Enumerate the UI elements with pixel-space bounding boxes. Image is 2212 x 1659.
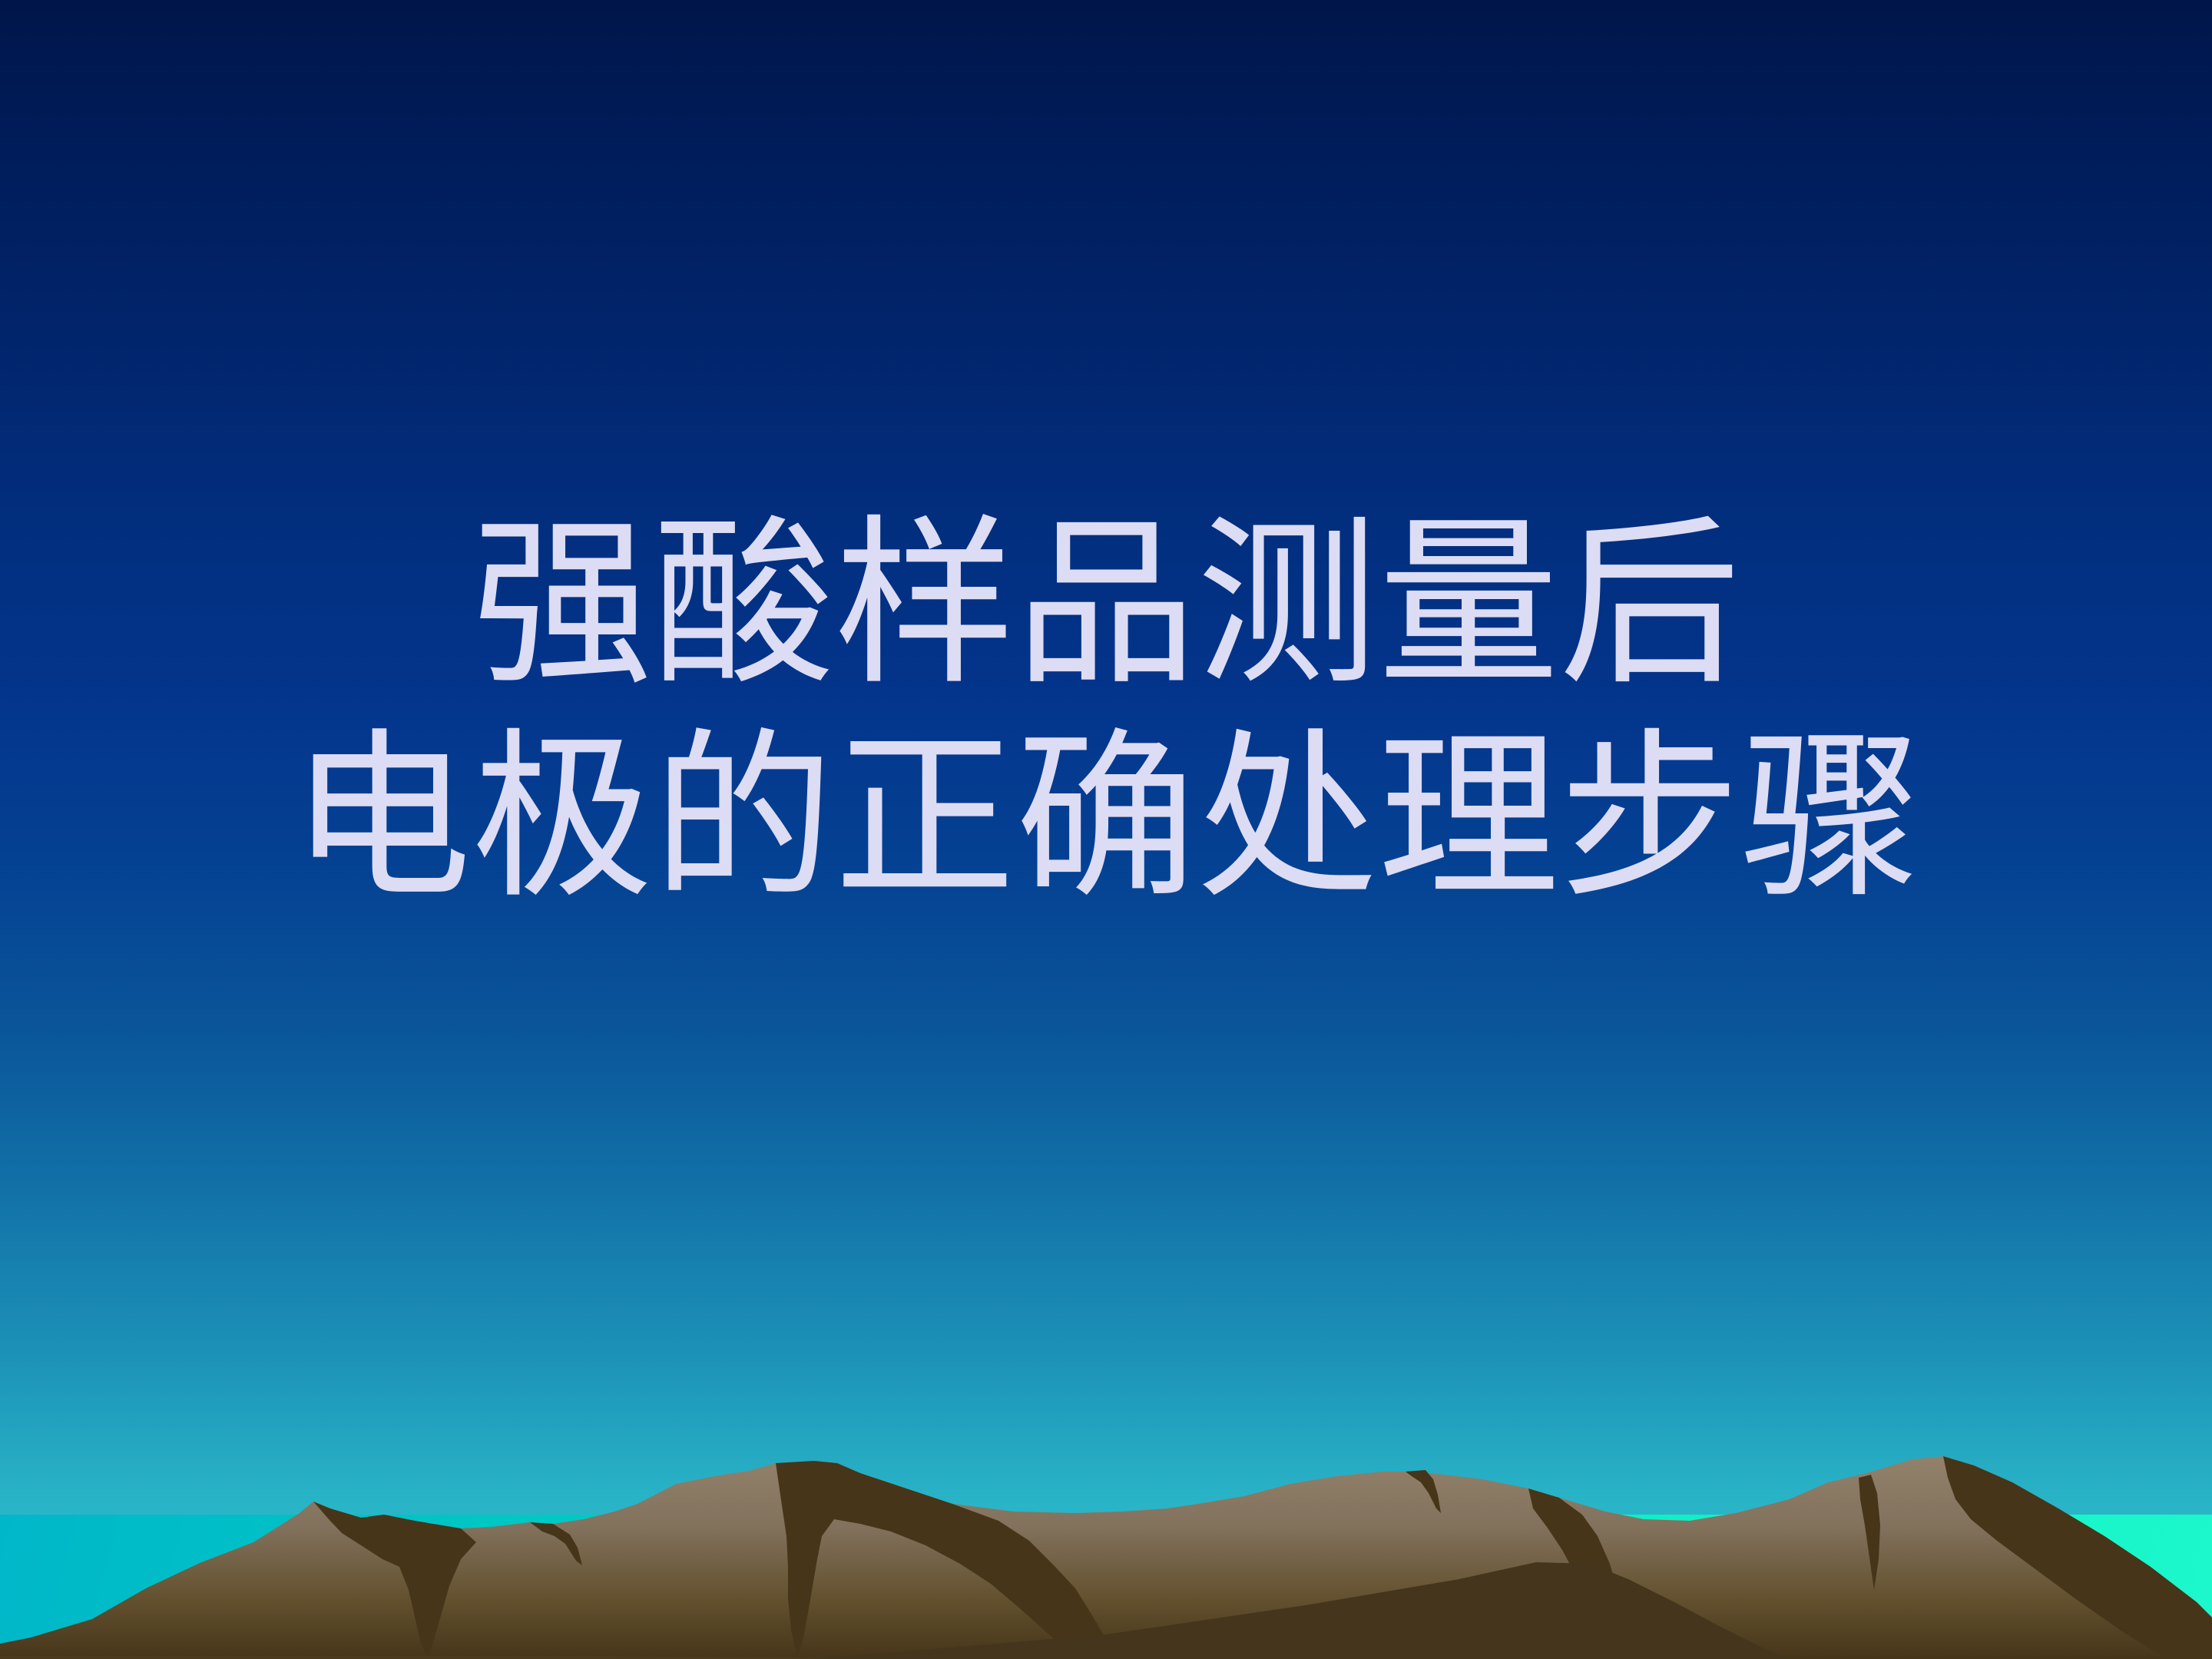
- mountain-range-graphic: [0, 1429, 2212, 1659]
- mountain-light-ridge: [0, 1456, 2212, 1659]
- sky-gradient-background: [0, 0, 2212, 1659]
- slide-canvas: 强酸样品测量后 电极的正确处理步骤: [0, 0, 2212, 1659]
